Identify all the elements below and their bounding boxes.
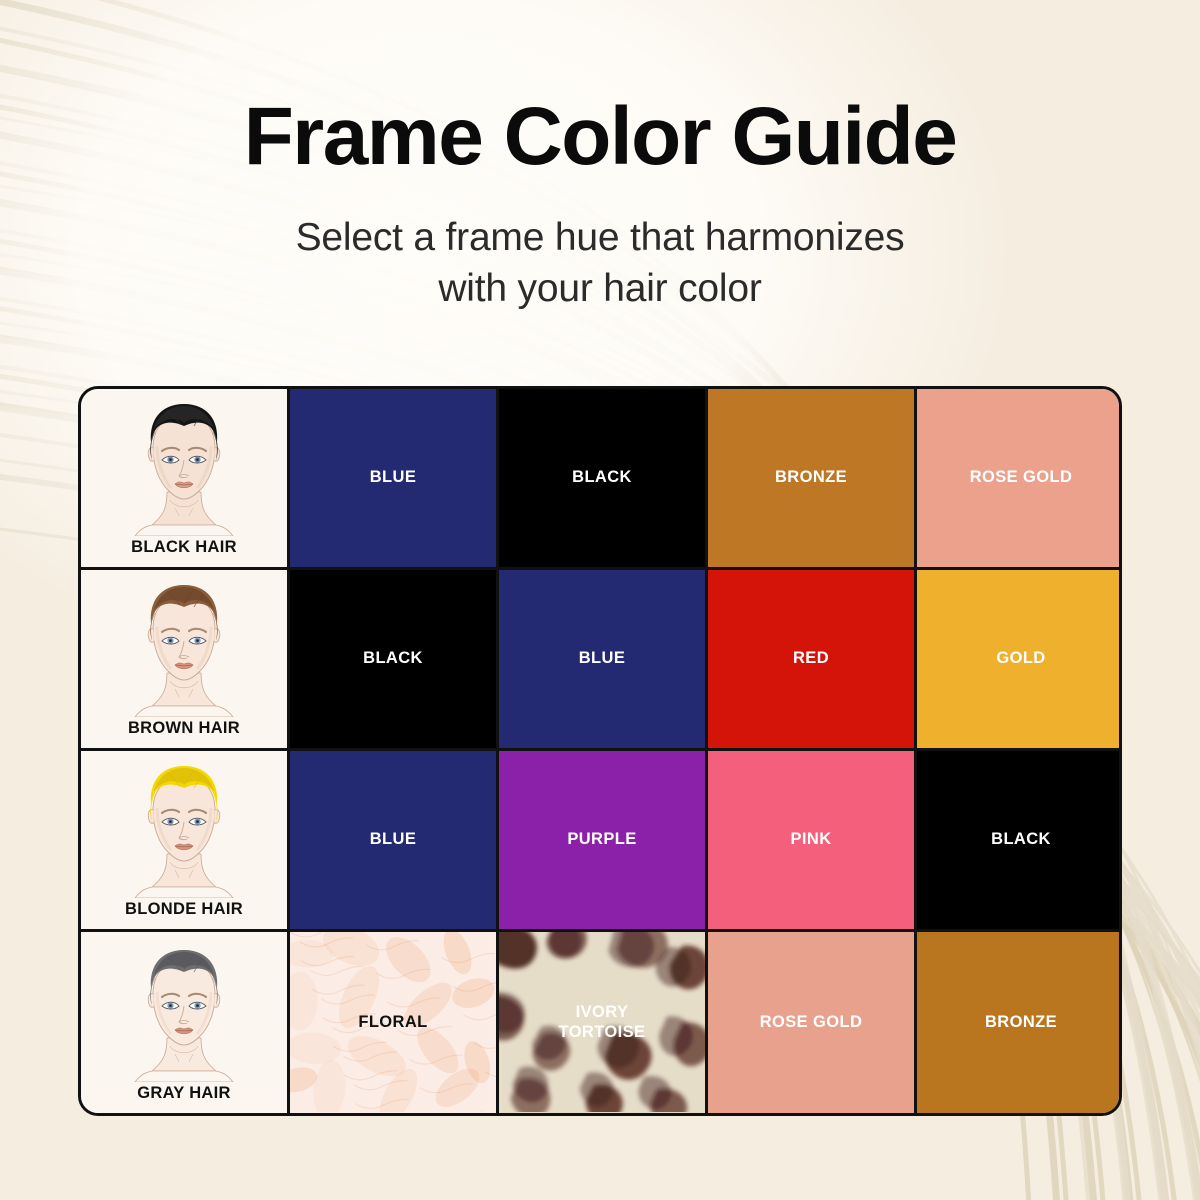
frame-color-swatch[interactable]: BRONZE bbox=[708, 389, 917, 570]
frame-color-label: PINK bbox=[790, 830, 831, 849]
frame-color-grid-panel: BLACK HAIRBLUEBLACKBRONZEROSE GOLD bbox=[78, 386, 1122, 1116]
page-subtitle: Select a frame hue that harmonizes with … bbox=[0, 212, 1200, 315]
frame-color-swatch[interactable]: ROSE GOLD bbox=[708, 932, 917, 1113]
frame-color-label: BLACK bbox=[991, 830, 1051, 849]
hair-type-cell: BLACK HAIR bbox=[81, 389, 290, 570]
hair-type-label: GRAY HAIR bbox=[137, 1084, 230, 1103]
frame-color-label: GOLD bbox=[996, 649, 1045, 668]
frame-color-label: BLUE bbox=[370, 830, 417, 849]
hair-type-cell: BLONDE HAIR bbox=[81, 751, 290, 932]
frame-color-label: BRONZE bbox=[985, 1013, 1057, 1032]
frame-color-label: BRONZE bbox=[775, 468, 847, 487]
frame-color-swatch[interactable]: BLUE bbox=[290, 751, 499, 932]
frame-color-swatch[interactable]: PINK bbox=[708, 751, 917, 932]
frame-color-swatch[interactable]: GOLD bbox=[917, 570, 1122, 751]
frame-color-swatch[interactable]: BLUE bbox=[499, 570, 708, 751]
hair-type-label: BLACK HAIR bbox=[131, 538, 237, 557]
frame-color-swatch[interactable]: BLACK bbox=[499, 389, 708, 570]
female-face-icon bbox=[123, 758, 245, 898]
frame-color-label: BLACK bbox=[572, 468, 632, 487]
frame-color-label: BLUE bbox=[579, 649, 626, 668]
frame-color-label: ROSE GOLD bbox=[970, 468, 1073, 487]
female-face-icon bbox=[123, 396, 245, 536]
frame-color-swatch[interactable]: BLUE bbox=[290, 389, 499, 570]
female-face-icon bbox=[123, 942, 245, 1082]
frame-color-label: ROSE GOLD bbox=[760, 1013, 863, 1032]
frame-color-swatch[interactable]: BRONZE bbox=[917, 932, 1122, 1113]
frame-color-label: BLUE bbox=[370, 468, 417, 487]
frame-color-label: IVORYTORTOISE bbox=[559, 1003, 646, 1042]
female-face-icon bbox=[123, 577, 245, 717]
hair-type-cell: BROWN HAIR bbox=[81, 570, 290, 751]
frame-color-swatch[interactable]: IVORYTORTOISE bbox=[499, 932, 708, 1113]
frame-color-swatch[interactable]: BLACK bbox=[917, 751, 1122, 932]
frame-color-swatch[interactable]: PURPLE bbox=[499, 751, 708, 932]
hair-type-label: BROWN HAIR bbox=[128, 719, 240, 738]
frame-color-swatch[interactable]: RED bbox=[708, 570, 917, 751]
page-header: Frame Color Guide Select a frame hue tha… bbox=[0, 0, 1200, 315]
frame-color-swatch[interactable]: FLORAL bbox=[290, 932, 499, 1113]
frame-color-label: FLORAL bbox=[358, 1013, 427, 1032]
frame-color-swatch[interactable]: ROSE GOLD bbox=[917, 389, 1122, 570]
frame-color-label: PURPLE bbox=[567, 830, 636, 849]
page-title: Frame Color Guide bbox=[0, 96, 1200, 178]
page-subtitle-line-1: Select a frame hue that harmonizes bbox=[0, 212, 1200, 263]
hair-type-label: BLONDE HAIR bbox=[125, 900, 243, 919]
page-subtitle-line-2: with your hair color bbox=[0, 263, 1200, 314]
frame-color-grid: BLACK HAIRBLUEBLACKBRONZEROSE GOLD bbox=[81, 389, 1119, 1113]
hair-type-cell: GRAY HAIR bbox=[81, 932, 290, 1113]
frame-color-label: RED bbox=[793, 649, 829, 668]
frame-color-label: BLACK bbox=[363, 649, 423, 668]
frame-color-swatch[interactable]: BLACK bbox=[290, 570, 499, 751]
